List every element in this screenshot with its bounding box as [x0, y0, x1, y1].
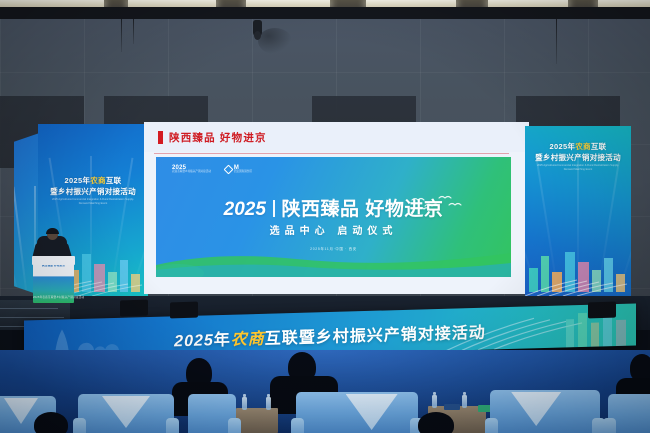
- led-panel-left-line1: 2025年农商互联: [38, 176, 148, 185]
- ceiling-light: [246, 0, 330, 7]
- led-panel-right-line1: 2025年农商互联: [525, 142, 631, 151]
- attendee-head: [418, 412, 454, 433]
- led-panel-right: 2025年农商互联 暨乡村振兴产销对接活动 2025 Agricultural-…: [525, 126, 631, 296]
- header-accent-bar: [158, 131, 163, 144]
- screen-header: 陕西臻品 好物进京: [144, 122, 529, 152]
- header-title: 陕西臻品 好物进京: [169, 130, 267, 145]
- led-panel-left-english: 2025 Agricultural-Commercial Integration…: [38, 198, 148, 205]
- conference-hall-photo: 2025年农商互联 暨乡村振兴产销对接活动 2025 Agricultural-…: [0, 0, 650, 433]
- stage-monitor-speaker: [120, 300, 148, 317]
- wheat-graphic: [525, 276, 631, 296]
- ceiling-light: [366, 0, 456, 7]
- attendee-head: [34, 412, 68, 433]
- water-bottle: [462, 395, 467, 408]
- diamond-icon: [223, 165, 233, 175]
- audience-chair: [296, 392, 418, 433]
- chair-arm: [603, 418, 616, 433]
- slide-content: 2025 农商互联暨乡村振兴产销对接活动 M 西安国际港务区: [156, 157, 511, 277]
- led-panel-left-line2: 暨乡村振兴产销对接活动: [38, 187, 148, 196]
- ceiling-camera-icon: [253, 20, 262, 37]
- led-panel-right-english: 2025 Agricultural-Commercial Integration…: [525, 164, 631, 171]
- water-bottle: [266, 397, 271, 410]
- stage-monitor-speaker: [170, 302, 198, 319]
- speaker-hair: [46, 228, 59, 234]
- logo-nongshang-sub: 农商互联暨乡村振兴产销对接活动: [172, 171, 211, 174]
- slide-subtitle: 选品中心 启动仪式: [156, 222, 511, 237]
- chair-doily: [346, 394, 398, 430]
- water-bottle: [242, 397, 247, 410]
- table-document: [444, 404, 460, 410]
- header-divider: [154, 153, 509, 154]
- main-projection-screen: 陕西臻品 好物进京 2025 农商互联暨乡村振兴产销对接活动 M: [144, 122, 529, 294]
- chair-doily: [102, 396, 150, 428]
- ceiling-light: [598, 0, 650, 7]
- audience-chair: [188, 394, 236, 433]
- logo-port-zone: M 西安国际港务区: [225, 165, 252, 174]
- ceiling-light: [488, 0, 568, 7]
- water-bottle: [432, 395, 437, 408]
- slide-main-title: 2025陕西臻品 好物进京: [156, 194, 511, 221]
- chair-arm: [291, 418, 304, 433]
- chair-doily: [4, 398, 38, 424]
- camera-shadow: [258, 28, 292, 54]
- ceiling-light: [0, 0, 104, 7]
- podium-bottom-text: 2025年农商互联暨乡村振兴产销对接活动: [33, 295, 74, 299]
- audience-chair: [608, 394, 650, 433]
- audience-area: [0, 350, 650, 433]
- logo-nongshang: 2025 农商互联暨乡村振兴产销对接活动: [172, 165, 211, 174]
- led-panel-right-line2: 暨乡村振兴产销对接活动: [525, 153, 631, 162]
- chair-arm: [73, 418, 86, 433]
- wall-cable: [556, 18, 557, 64]
- chair-arm: [166, 418, 179, 433]
- audience-chair: [490, 390, 600, 433]
- audience-chair: [78, 394, 174, 433]
- podium-top-surface: [32, 256, 75, 265]
- chair-arm: [485, 418, 498, 433]
- ceiling-light: [128, 0, 216, 7]
- stage-monitor-speaker: [588, 302, 616, 319]
- ceiling-shadow-band: [0, 7, 650, 19]
- hill-graphic: [156, 243, 511, 277]
- chair-arm: [228, 418, 241, 433]
- stage-led-wall: 2025年农商互联 暨乡村振兴产销对接活动 2025 Agricultural-…: [14, 118, 636, 300]
- wall-cable: [121, 18, 122, 52]
- side-table: [236, 408, 278, 433]
- wall-cable: [133, 18, 134, 44]
- logo-port-zone-sub: 西安国际港务区: [234, 171, 252, 174]
- chair-doily: [511, 392, 561, 426]
- slide-logo-row: 2025 农商互联暨乡村振兴产销对接活动 M 西安国际港务区: [172, 165, 252, 174]
